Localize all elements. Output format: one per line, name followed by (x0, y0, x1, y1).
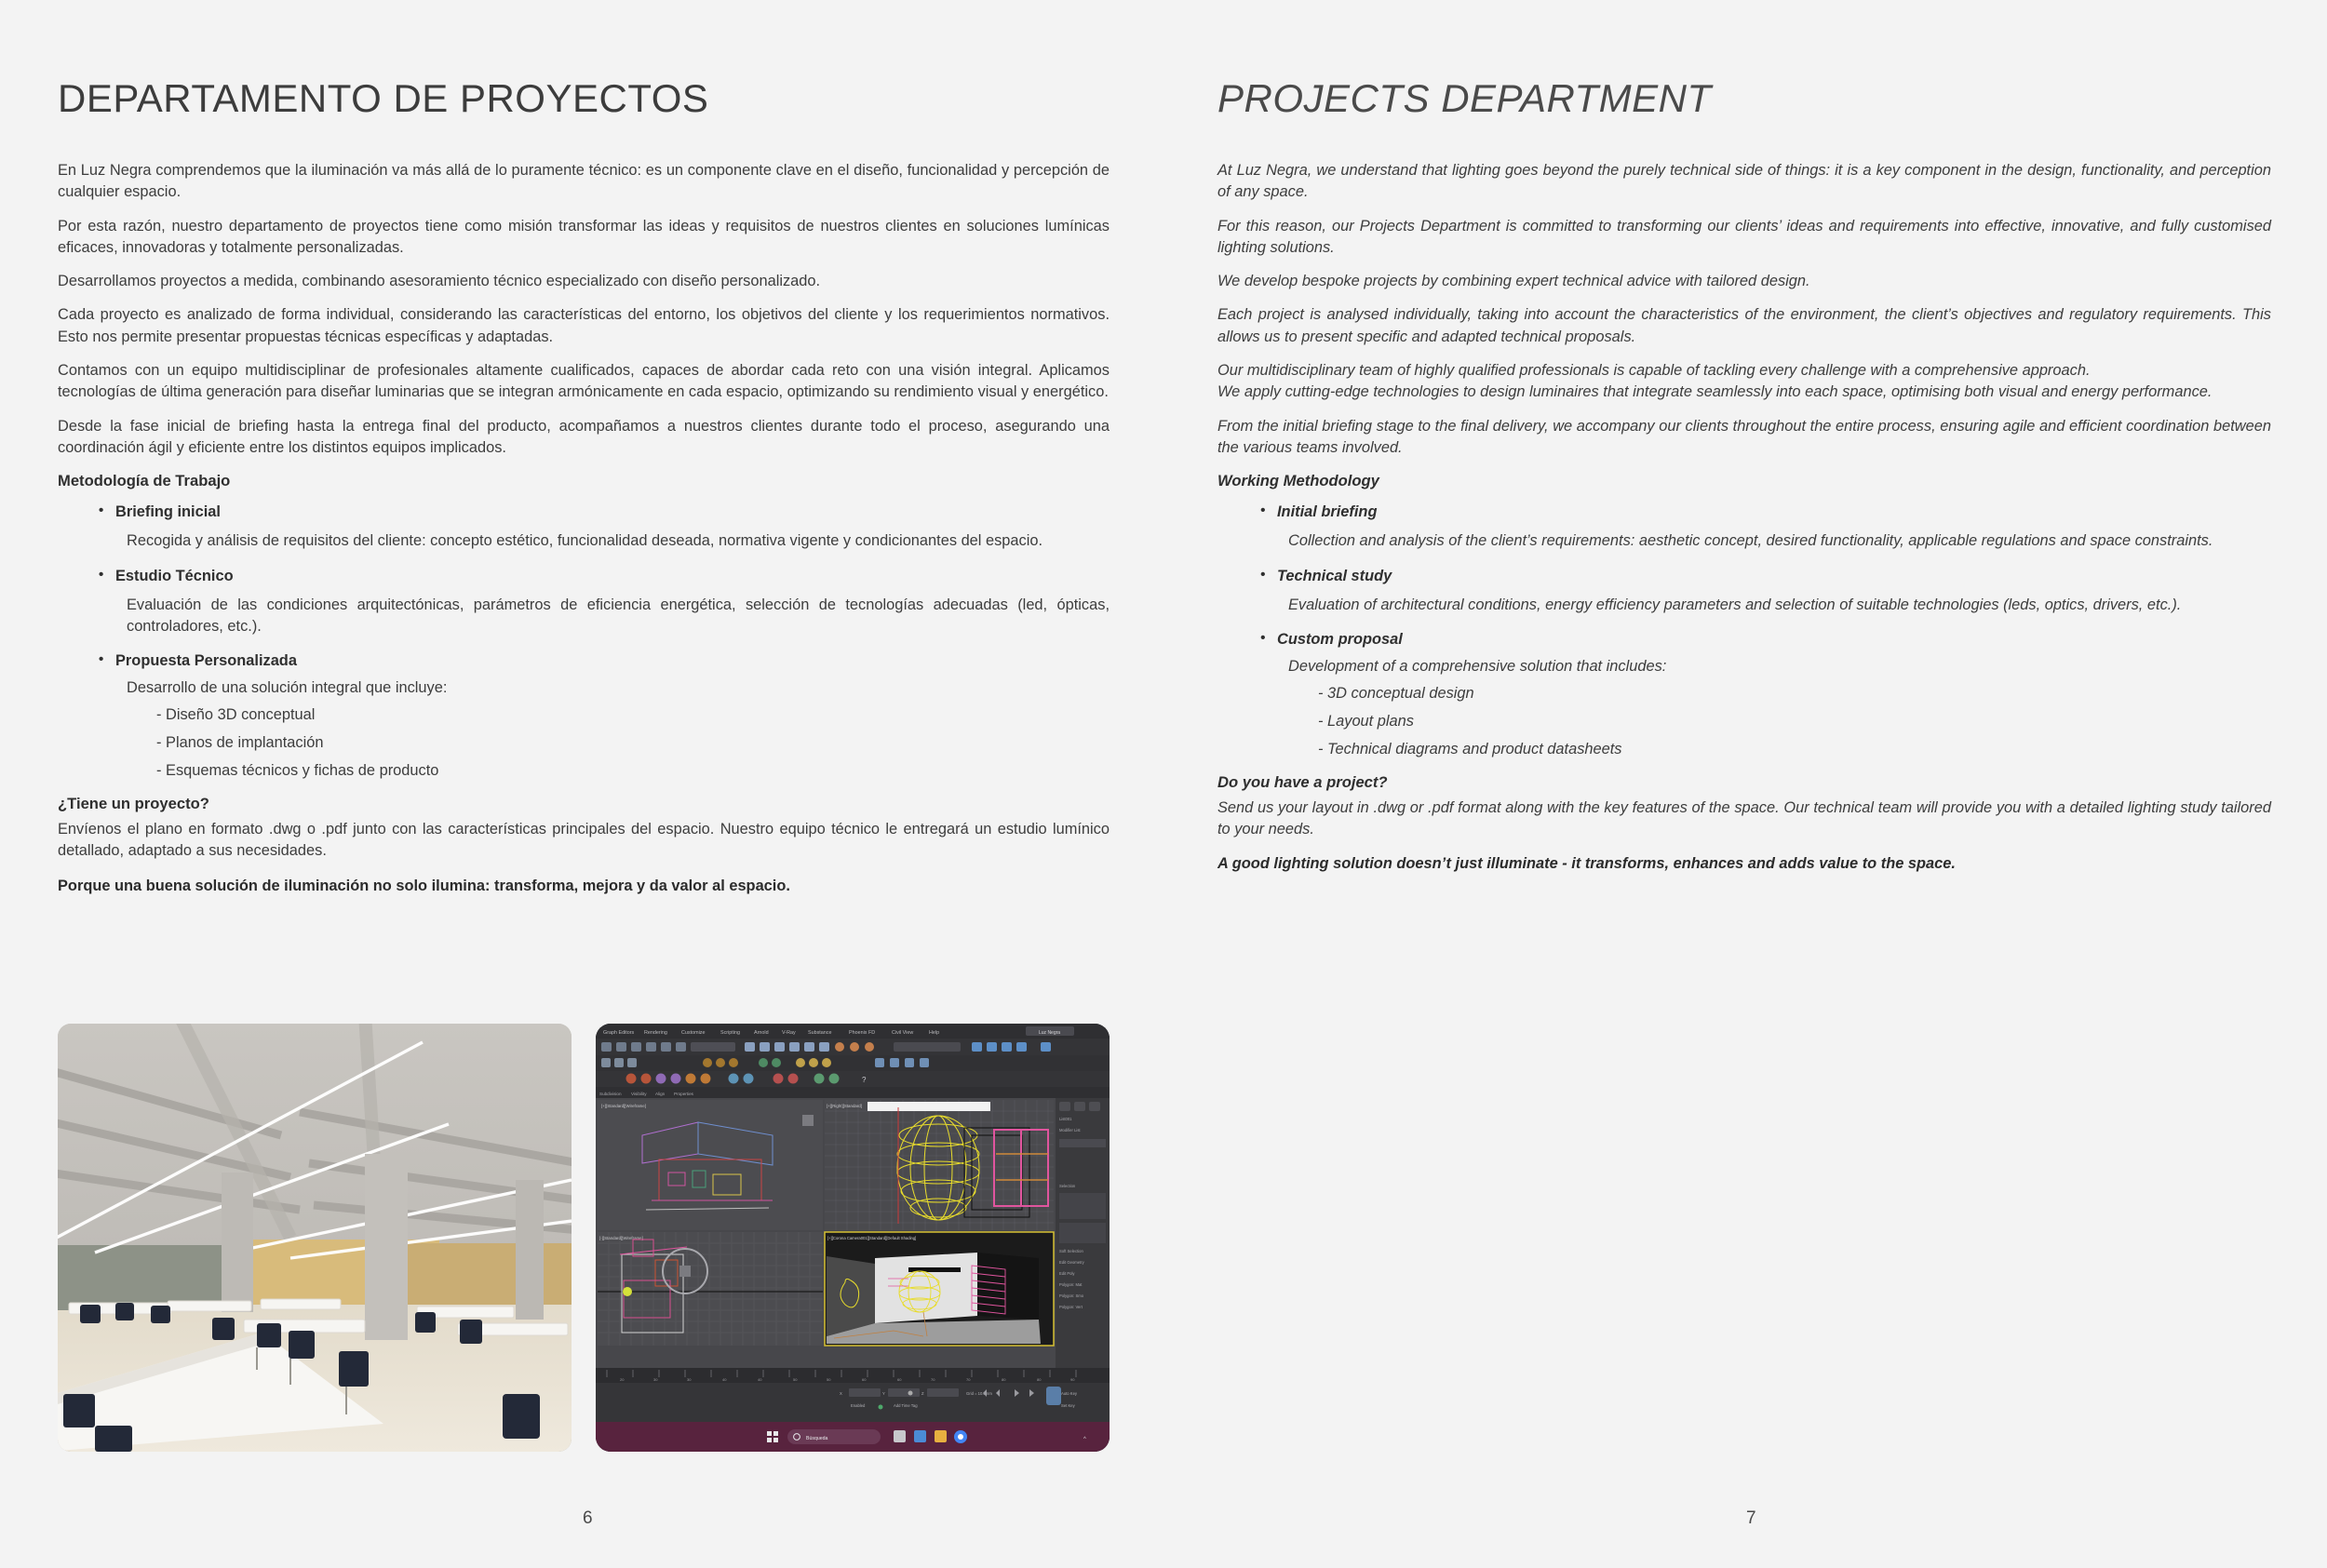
svg-text:[+][Right][Standard]: [+][Right][Standard] (827, 1104, 862, 1108)
3dsmax-ui-illustration: Graph Editors Rendering Customize Script… (596, 1024, 1110, 1452)
svg-text:20: 20 (620, 1377, 625, 1382)
bullet-body: Evaluation of architectural conditions, … (1288, 595, 2271, 616)
svg-text:Add Time Tag: Add Time Tag (894, 1403, 918, 1408)
page-number-left: 6 (583, 1508, 593, 1529)
svg-text:Graph Editors: Graph Editors (603, 1030, 635, 1036)
paragraph: Each project is analysed individually, t… (1217, 304, 2271, 348)
svg-text:40: 40 (758, 1377, 762, 1382)
svg-text:Set Key: Set Key (1061, 1403, 1076, 1408)
svg-text:[+][Standard][Wireframe]: [+][Standard][Wireframe] (601, 1104, 646, 1108)
svg-text:Visibility: Visibility (631, 1092, 647, 1096)
list-item: Estudio Técnico Evaluación de las condic… (99, 568, 1110, 638)
svg-text:List001: List001 (1059, 1117, 1072, 1121)
catalog-spread: DEPARTAMENTO DE PROYECTOS En Luz Negra c… (0, 0, 2327, 1568)
svg-text:Y: Y (882, 1391, 885, 1396)
bullet-title: Briefing inicial (99, 503, 1110, 521)
project-question-heading: ¿Tiene un proyecto? (58, 795, 1110, 813)
methodology-heading: Working Methodology (1217, 472, 2271, 490)
project-question-heading: Do you have a project? (1217, 773, 2271, 792)
dash-sub-list: - 3D conceptual design - Layout plans - … (1318, 685, 2271, 758)
svg-text:70: 70 (931, 1377, 935, 1382)
svg-text:90: 90 (1070, 1377, 1075, 1382)
bullet-body: Recogida y análisis de requisitos del cl… (127, 530, 1110, 552)
dash-item: - Technical diagrams and product datashe… (1318, 741, 2271, 758)
bullet-title: Technical study (1260, 568, 2271, 585)
methodology-bullet-list: Briefing inicial Recogida y análisis de … (99, 503, 1110, 780)
svg-text:Luz Negra: Luz Negra (1039, 1030, 1060, 1036)
svg-text:Polygon: Vert: Polygon: Vert (1059, 1305, 1083, 1309)
methodology-heading: Metodología de Trabajo (58, 472, 1110, 490)
svg-text:60: 60 (897, 1377, 902, 1382)
page-title-spanish: DEPARTAMENTO DE PROYECTOS (58, 76, 1126, 121)
bullet-intro: Development of a comprehensive solution … (1288, 658, 2271, 676)
paragraph: Our multidisciplinary team of highly qua… (1217, 360, 2271, 404)
svg-text:Arnold: Arnold (754, 1030, 769, 1036)
svg-text:?: ? (862, 1076, 867, 1084)
bullet-body: Collection and analysis of the client’s … (1288, 530, 2271, 552)
svg-text:Help: Help (929, 1030, 939, 1036)
svg-text:Grid = 10.0mm: Grid = 10.0mm (966, 1391, 992, 1396)
list-item: Custom proposal Development of a compreh… (1260, 631, 2271, 758)
svg-text:Substance: Substance (808, 1030, 831, 1036)
svg-text:^: ^ (1083, 1437, 1086, 1442)
paragraph: Contamos con un equipo multidisciplinar … (58, 360, 1110, 404)
svg-text:70: 70 (966, 1377, 971, 1382)
list-item: Technical study Evaluation of architectu… (1260, 568, 2271, 616)
body-column-english: At Luz Negra, we understand that lightin… (1217, 160, 2271, 876)
methodology-bullet-list: Initial briefing Collection and analysis… (1260, 503, 2271, 758)
bullet-title: Initial briefing (1260, 503, 2271, 521)
svg-text:Edit Poly: Edit Poly (1059, 1271, 1075, 1276)
svg-text:Polygon: Smo: Polygon: Smo (1059, 1293, 1084, 1298)
svg-text:30: 30 (653, 1377, 658, 1382)
project-instructions: Send us your layout in .dwg or .pdf form… (1217, 797, 2271, 841)
svg-text:Edit Geometry: Edit Geometry (1059, 1260, 1085, 1265)
paragraph: At Luz Negra, we understand that lightin… (1217, 160, 2271, 204)
page-left-spanish: DEPARTAMENTO DE PROYECTOS En Luz Negra c… (0, 0, 1163, 1568)
dash-item: - Diseño 3D conceptual (156, 706, 1110, 724)
svg-text:80: 80 (1002, 1377, 1006, 1382)
closing-statement: A good lighting solution doesn’t just il… (1217, 853, 2271, 875)
office-interior-illustration (58, 1024, 572, 1452)
closing-statement: Porque una buena solución de iluminación… (58, 876, 1110, 897)
svg-text:30: 30 (687, 1377, 692, 1382)
svg-text:Búsqueda: Búsqueda (806, 1436, 827, 1441)
bullet-body: Evaluación de las condiciones arquitectó… (127, 595, 1110, 638)
svg-text:Modifier List: Modifier List (1059, 1128, 1081, 1132)
body-column-spanish: En Luz Negra comprendemos que la ilumina… (58, 160, 1110, 897)
paragraph: Por esta razón, nuestro departamento de … (58, 216, 1110, 260)
figure-row-left: Graph Editors Rendering Customize Script… (58, 1024, 1110, 1452)
dash-item: - 3D conceptual design (1318, 685, 2271, 703)
svg-text:Properties: Properties (674, 1092, 694, 1096)
list-item: Propuesta Personalizada Desarrollo de un… (99, 652, 1110, 780)
svg-text:Customize: Customize (681, 1030, 705, 1036)
svg-text:Scripting: Scripting (720, 1030, 740, 1036)
paragraph: We develop bespoke projects by combining… (1217, 271, 2271, 292)
paragraph: En Luz Negra comprendemos que la ilumina… (58, 160, 1110, 204)
page-number-right: 7 (1746, 1508, 1756, 1529)
project-instructions: Envíenos el plano en formato .dwg o .pdf… (58, 819, 1110, 863)
paragraph: Desarrollamos proyectos a medida, combin… (58, 271, 1110, 292)
svg-text:Soft Selection: Soft Selection (1059, 1249, 1084, 1253)
svg-text:50: 50 (827, 1377, 831, 1382)
svg-text:Selection: Selection (1059, 1184, 1076, 1188)
dash-item: - Esquemas técnicos y fichas de producto (156, 762, 1110, 780)
svg-text:Civil View: Civil View (892, 1030, 913, 1036)
page-title-english: PROJECTS DEPARTMENT (1217, 76, 2269, 121)
list-item: Briefing inicial Recogida y análisis de … (99, 503, 1110, 552)
paragraph: From the initial briefing stage to the f… (1217, 416, 2271, 460)
dash-item: - Planos de implantación (156, 734, 1110, 752)
svg-text:X: X (840, 1391, 842, 1396)
page-right-english: PROJECTS DEPARTMENT At Luz Negra, we und… (1163, 0, 2327, 1568)
svg-text:Enabled: Enabled (851, 1403, 866, 1408)
paragraph: Desde la fase inicial de briefing hasta … (58, 416, 1110, 460)
svg-text:40: 40 (722, 1377, 727, 1382)
svg-text:60: 60 (862, 1377, 867, 1382)
bullet-title: Custom proposal (1260, 631, 2271, 649)
svg-text:[+][Corona Camera001][Standard: [+][Corona Camera001][Standard][Default … (827, 1236, 916, 1240)
dash-item: - Layout plans (1318, 713, 2271, 730)
paragraph: For this reason, our Projects Department… (1217, 216, 2271, 260)
svg-text:80: 80 (1037, 1377, 1042, 1382)
office-interior-photo (58, 1024, 572, 1452)
svg-text:Align: Align (655, 1092, 666, 1096)
svg-text:Phoenix FD: Phoenix FD (849, 1030, 875, 1036)
svg-text:Rendering: Rendering (644, 1030, 667, 1036)
svg-text:Subdivision: Subdivision (599, 1092, 622, 1096)
svg-text:Polygon: Mat: Polygon: Mat (1059, 1282, 1083, 1287)
bullet-title: Estudio Técnico (99, 568, 1110, 585)
bullet-intro: Desarrollo de una solución integral que … (127, 679, 1110, 697)
3dsmax-software-screenshot: Graph Editors Rendering Customize Script… (596, 1024, 1110, 1452)
paragraph: Cada proyecto es analizado de forma indi… (58, 304, 1110, 348)
dash-sub-list: - Diseño 3D conceptual - Planos de impla… (156, 706, 1110, 780)
list-item: Initial briefing Collection and analysis… (1260, 503, 2271, 552)
bullet-title: Propuesta Personalizada (99, 652, 1110, 670)
svg-text:Z: Z (921, 1391, 924, 1396)
svg-text:Auto Key: Auto Key (1061, 1391, 1078, 1396)
svg-text:50: 50 (793, 1377, 798, 1382)
svg-text:V-Ray: V-Ray (782, 1030, 796, 1036)
